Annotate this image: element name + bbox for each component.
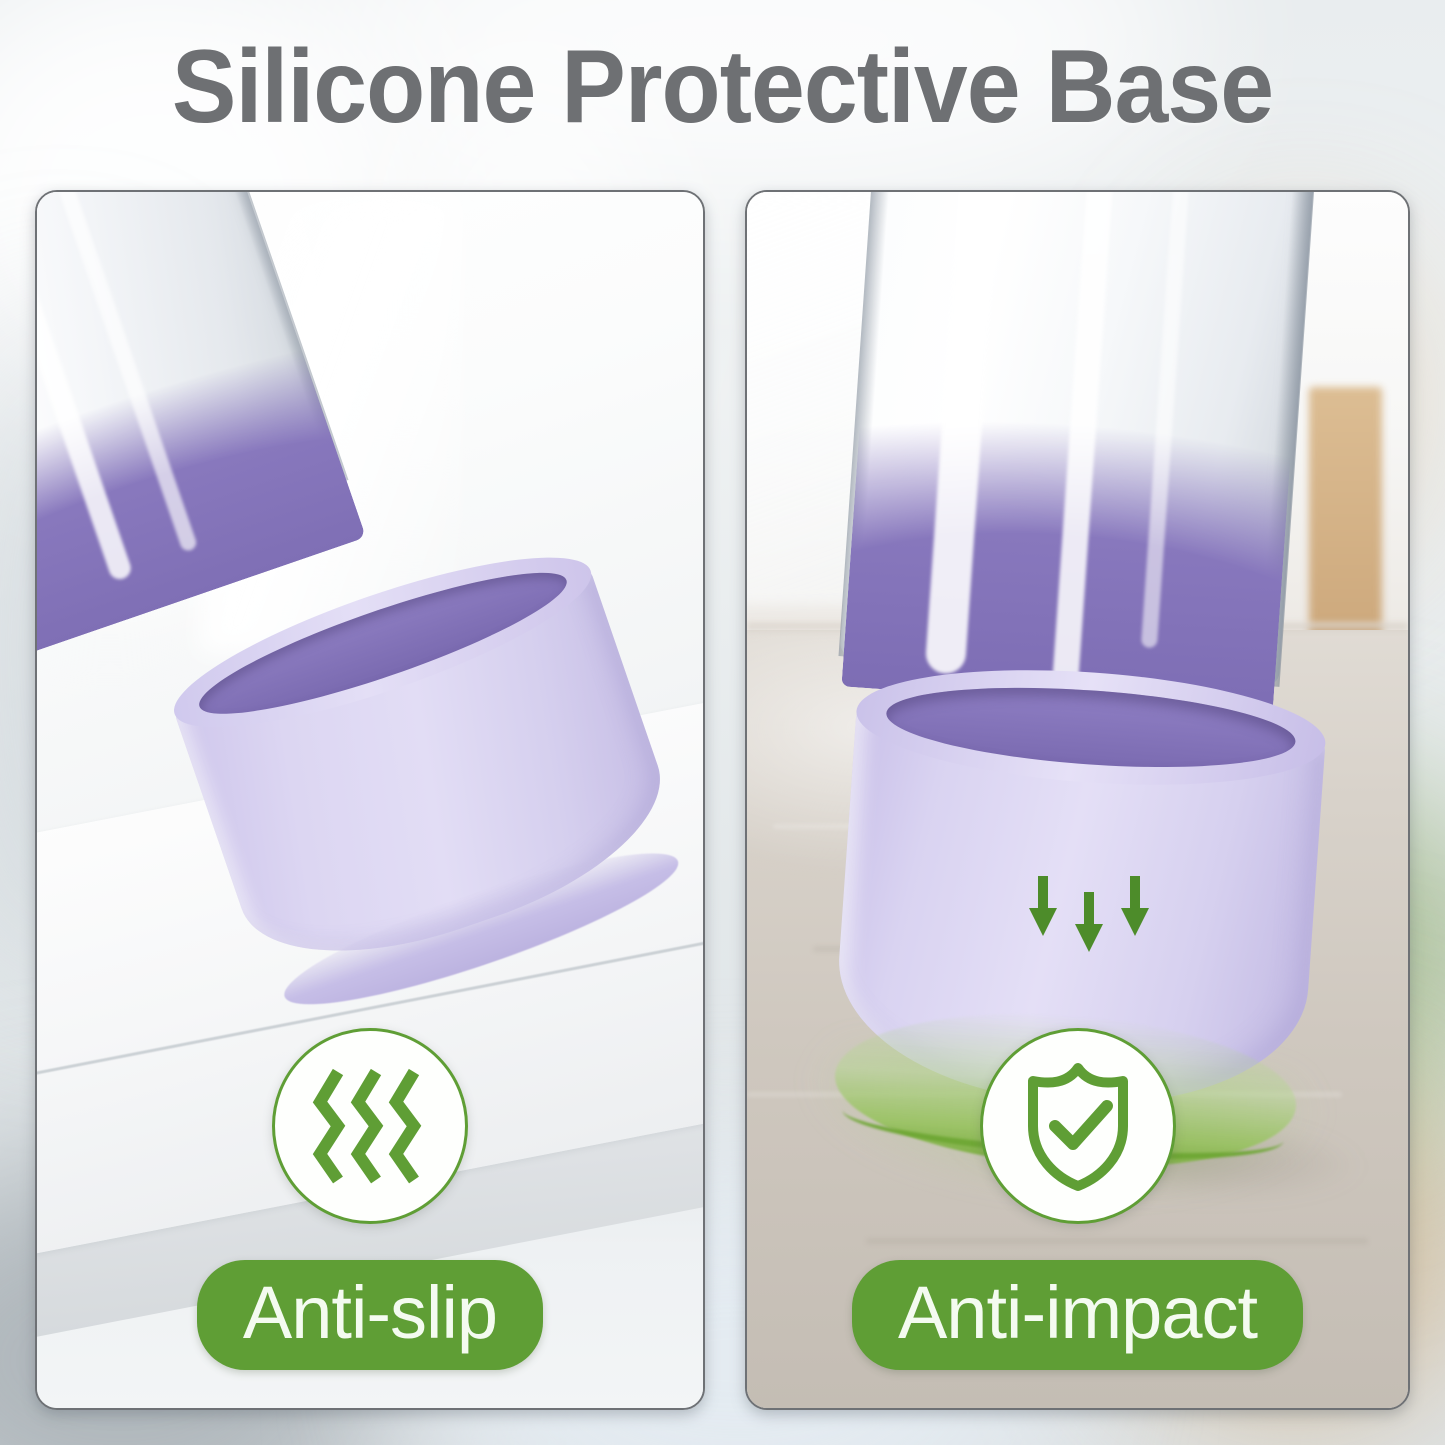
shield-check-icon	[1015, 1060, 1141, 1192]
anti-impact-icon-badge	[980, 1028, 1176, 1224]
page-title: Silicone Protective Base	[51, 28, 1395, 147]
anti-slip-icon-badge	[272, 1028, 468, 1224]
badge-group-anti-slip: Anti-slip	[35, 1028, 705, 1370]
down-arrow-icon	[1119, 876, 1151, 938]
anti-slip-badge-label: Anti-slip	[197, 1260, 543, 1370]
down-arrow-icon	[1027, 876, 1059, 938]
impact-arrows-group	[1027, 876, 1157, 946]
zigzag-waves-icon	[310, 1064, 430, 1188]
down-arrow-icon	[1073, 892, 1105, 954]
anti-impact-badge-label: Anti-impact	[852, 1260, 1303, 1370]
badge-group-anti-impact: Anti-impact	[745, 1028, 1410, 1370]
